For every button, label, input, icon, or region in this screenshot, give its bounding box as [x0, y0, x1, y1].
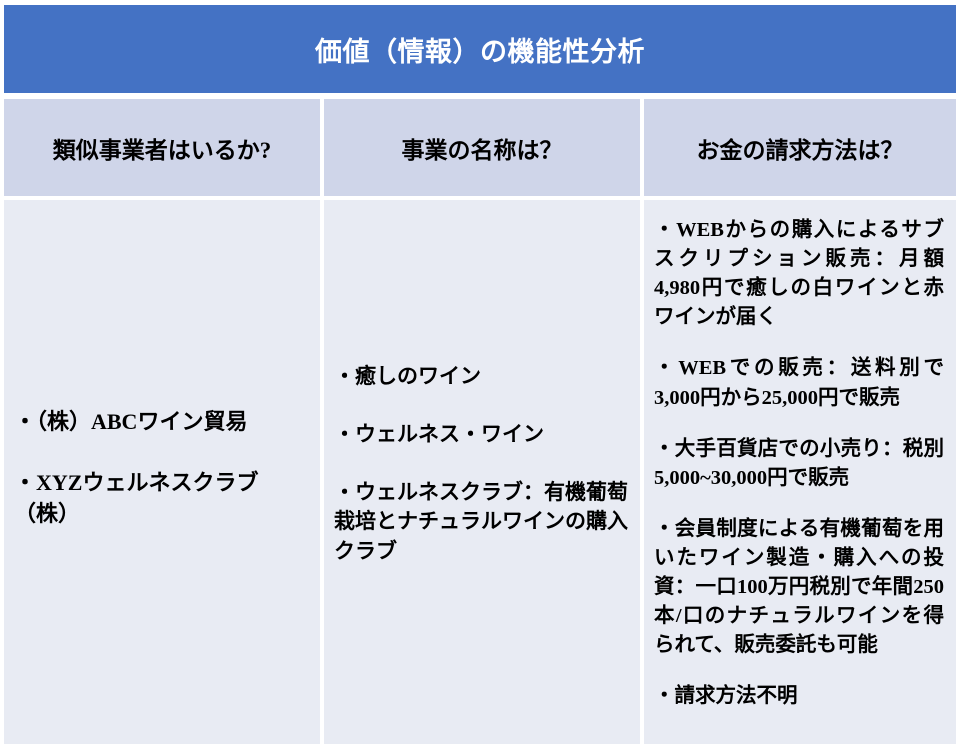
list-item: ・WEBでの販売：送料別で3,000円から25,000円で販売: [654, 354, 944, 412]
column-header-label: お金の請求方法は？: [697, 131, 904, 165]
list-item: ・ウェルネスクラブ：有機葡萄栽培とナチュラルワインの購入クラブ: [334, 478, 628, 567]
column-header-label: 類似事業者はいるか?: [53, 131, 272, 165]
list-item: ・ウェルネス・ワイン: [334, 420, 628, 450]
table-header-cell-similar-businesses: 類似事業者はいるか?: [4, 99, 320, 196]
list-item: ・癒しのワイン: [334, 362, 628, 392]
bullet-list: ・癒しのワイン ・ウェルネス・ワイン ・ウェルネスクラブ：有機葡萄栽培とナチュラ…: [334, 210, 628, 744]
table-cell-similar-businesses: ・（株）ABCワイン貿易 ・XYZウェルネスクラブ（株）: [4, 200, 320, 744]
table-cell-business-name: ・癒しのワイン ・ウェルネス・ワイン ・ウェルネスクラブ：有機葡萄栽培とナチュラ…: [324, 200, 640, 744]
list-item: ・請求方法不明: [654, 682, 944, 711]
list-item: ・XYZウェルネスクラブ（株）: [14, 467, 308, 529]
table-cell-billing-method: ・WEBからの購入によるサブスクリプション販売：月額4,980円で癒しの白ワイン…: [644, 200, 956, 744]
slide: 価値（情報）の機能性分析 類似事業者はいるか? 事業の名称は？ お金の請求方法は…: [0, 0, 960, 720]
table-body-row: ・（株）ABCワイン貿易 ・XYZウェルネスクラブ（株） ・癒しのワイン ・ウェ…: [4, 200, 956, 744]
table-header-cell-billing-method: お金の請求方法は？: [644, 99, 956, 196]
list-item: ・大手百貨店での小売り：税別5,000~30,000円で販売: [654, 435, 944, 493]
list-item: ・（株）ABCワイン貿易: [14, 406, 308, 437]
list-item: ・会員制度による有機葡萄を用いたワイン製造・購入への投資：一口100万円税別で年…: [654, 515, 944, 661]
bullet-list: ・（株）ABCワイン貿易 ・XYZウェルネスクラブ（株）: [14, 210, 308, 744]
slide-title-banner: 価値（情報）の機能性分析: [4, 5, 956, 93]
analysis-table: 類似事業者はいるか? 事業の名称は？ お金の請求方法は？ ・（株）ABCワイン貿…: [4, 99, 956, 713]
list-item: ・WEBからの購入によるサブスクリプション販売：月額4,980円で癒しの白ワイン…: [654, 216, 944, 332]
bullet-list: ・WEBからの購入によるサブスクリプション販売：月額4,980円で癒しの白ワイン…: [654, 210, 944, 740]
column-header-label: 事業の名称は？: [402, 131, 563, 165]
table-header-row: 類似事業者はいるか? 事業の名称は？ お金の請求方法は？: [4, 99, 956, 196]
table-header-cell-business-name: 事業の名称は？: [324, 99, 640, 196]
page-title: 価値（情報）の機能性分析: [315, 30, 645, 69]
